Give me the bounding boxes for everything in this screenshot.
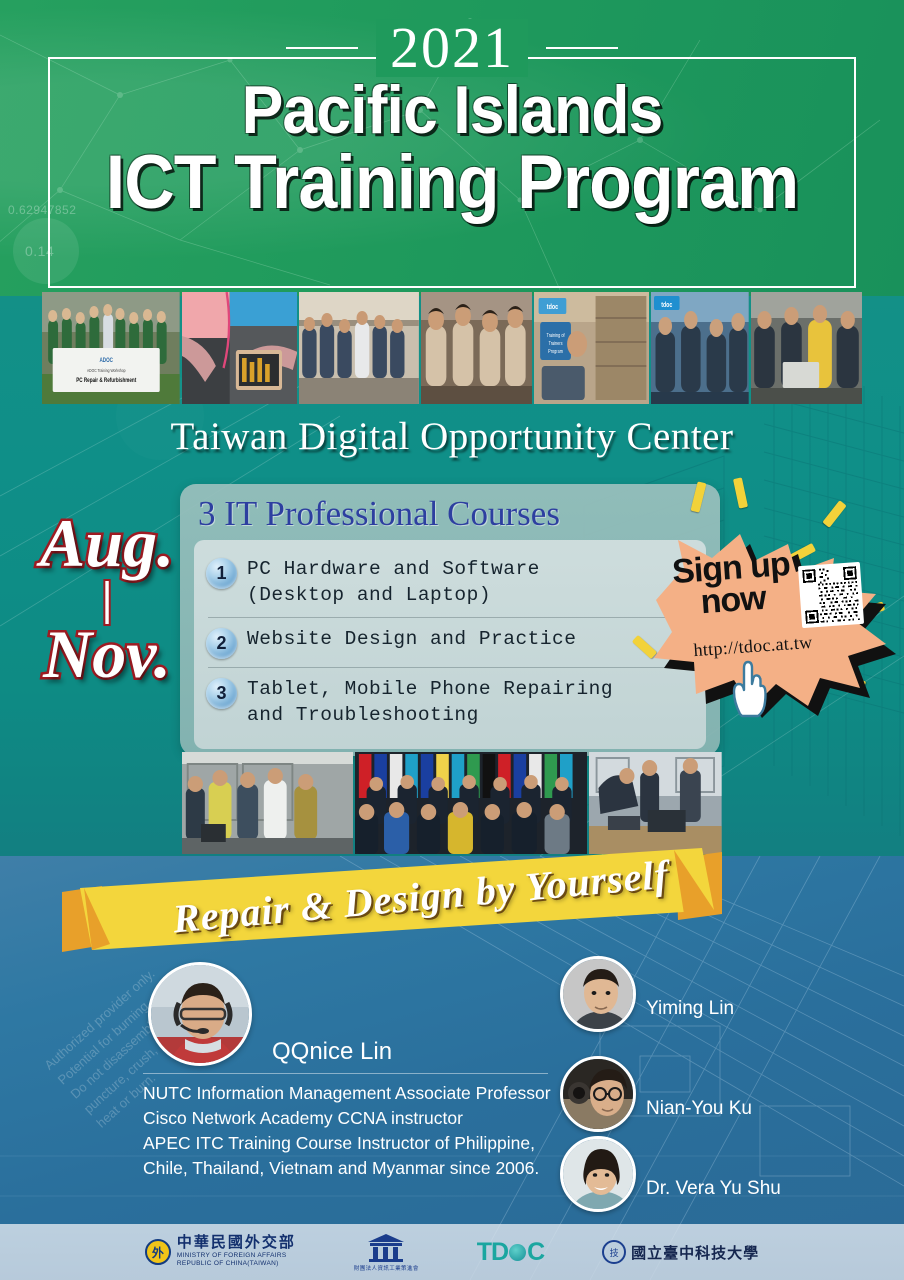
iii-building-icon [366, 1233, 406, 1263]
season-from: Aug. [22, 512, 192, 575]
title-line-1: Pacific Islands [36, 78, 868, 143]
nutc-seal-icon: 技 [602, 1240, 626, 1264]
courses-card: 3 IT Professional Courses 1 PC Hardware … [180, 484, 720, 756]
pc-repair-lab-photo [589, 752, 722, 854]
season-to: Nov. [22, 623, 192, 686]
instructor-name: Yiming Lin [646, 998, 734, 1020]
instructor-avatar [560, 1136, 636, 1212]
tdoc-text-a: TD [477, 1238, 508, 1267]
photo-strip-bottom [182, 752, 722, 854]
instructor-nian-you-ku: Nian-You Ku [560, 1056, 890, 1138]
svg-text:Training of: Training of [546, 333, 565, 339]
lead-instructor-bio: NUTC Information Management Associate Pr… [143, 1081, 573, 1180]
svg-text:Trainers: Trainers [548, 341, 563, 347]
instructor-avatar [560, 1056, 636, 1132]
courses-list: 1 PC Hardware and Software (Desktop and … [194, 540, 706, 749]
qr-code-icon[interactable] [798, 562, 864, 628]
logo-tdoc: TD C [477, 1238, 544, 1267]
group-banner-photo: ADOC ADOC Training Workshop PC Repair & … [42, 292, 180, 404]
page-title: Pacific Islands ICT Training Program [0, 78, 904, 220]
svg-text:tdoc: tdoc [662, 301, 674, 309]
instructor-name: Nian-You Ku [646, 1098, 752, 1120]
photo-strip-top: ADOC ADOC Training Workshop PC Repair & … [42, 292, 862, 404]
season-range: Aug. | Nov. [22, 512, 192, 685]
logo-iii: 財團法人資訊工業策進會 [354, 1233, 419, 1272]
instructor-yiming-lin: Yiming Lin [560, 956, 890, 1038]
course-item-3[interactable]: 3 Tablet, Mobile Phone Repairing and Tro… [204, 670, 694, 733]
courses-card-title: 3 IT Professional Courses [198, 494, 706, 534]
lead-instructor-name: QQnice Lin [272, 1038, 392, 1066]
course-divider [208, 617, 690, 618]
title-line-2: ICT Training Program [36, 147, 868, 220]
lead-instructor-rule [143, 1073, 548, 1074]
poster-root: 0.62947852 0.14 [0, 0, 904, 1280]
svg-text:PC Repair & Refurbishment: PC Repair & Refurbishment [76, 378, 136, 385]
hands-repair-photo [182, 292, 297, 404]
svg-text:Program: Program [548, 349, 563, 355]
svg-text:tdoc: tdoc [547, 303, 559, 311]
subtitle: Taiwan Digital Opportunity Center [0, 414, 904, 459]
course-label: PC Hardware and Software (Desktop and La… [247, 556, 540, 609]
hands-on-training-photo [751, 292, 862, 404]
tdoc-lab-photo: tdoc [651, 292, 749, 404]
year-rule-right [546, 47, 618, 49]
instructor-avatar [560, 956, 636, 1032]
mofa-chinese-name: 中華民國外交部 [177, 1236, 296, 1252]
lead-instructor-avatar [148, 962, 252, 1066]
course-item-2[interactable]: 2 Website Design and Practice [204, 620, 694, 663]
logo-nutc: 技 國立臺中科技大學 [602, 1240, 759, 1264]
course-number-badge: 3 [206, 678, 237, 709]
logo-mofa: 外 中華民國外交部 MINISTRY OF FOREIGN AFFAIRS RE… [145, 1236, 296, 1268]
tdoc-workshop-photo: tdoc Training of Trainers Program [534, 292, 649, 404]
mofa-seal-icon: 外 [145, 1239, 171, 1265]
year-row: 2021 [0, 16, 904, 80]
nutc-chinese-name: 國立臺中科技大學 [631, 1242, 759, 1263]
instructor-vera-yu-shu: Dr. Vera Yu Shu [560, 1136, 890, 1218]
year-label: 2021 [376, 19, 528, 77]
delegation-flags-photo [355, 752, 587, 854]
tdoc-globe-icon [509, 1244, 526, 1261]
svg-text:ADOC Training Workshop: ADOC Training Workshop [87, 368, 126, 374]
burst-content: Sign up now [648, 528, 888, 708]
season-separator: | [22, 577, 192, 621]
course-label: Tablet, Mobile Phone Repairing and Troub… [247, 676, 613, 729]
signup-line-2: now [699, 579, 766, 621]
pointing-hand-icon [726, 656, 772, 718]
instructor-name: Dr. Vera Yu Shu [646, 1178, 781, 1200]
year-rule-left [286, 47, 358, 49]
course-label: Website Design and Practice [247, 626, 576, 652]
signup-text: Sign up now [666, 548, 798, 621]
course-number-badge: 2 [206, 628, 237, 659]
classroom-group-photo [299, 292, 419, 404]
svg-text:ADOC: ADOC [99, 358, 113, 365]
course-item-1[interactable]: 1 PC Hardware and Software (Desktop and … [204, 550, 694, 613]
footer-logos: 外 中華民國外交部 MINISTRY OF FOREIGN AFFAIRS RE… [0, 1224, 904, 1280]
ribbon-banner: Repair & Design by Yourself [62, 848, 722, 960]
soldering-demo-photo [182, 752, 353, 854]
tdoc-text-b: C [527, 1238, 544, 1267]
course-divider [208, 667, 690, 668]
course-number-badge: 1 [206, 558, 237, 589]
mofa-english-name: MINISTRY OF FOREIGN AFFAIRS REPUBLIC OF … [177, 1252, 296, 1268]
signup-burst[interactable]: Sign up now [648, 528, 904, 728]
iii-chinese-name: 財團法人資訊工業策進會 [354, 1264, 419, 1272]
students-smiling-photo [421, 292, 532, 404]
